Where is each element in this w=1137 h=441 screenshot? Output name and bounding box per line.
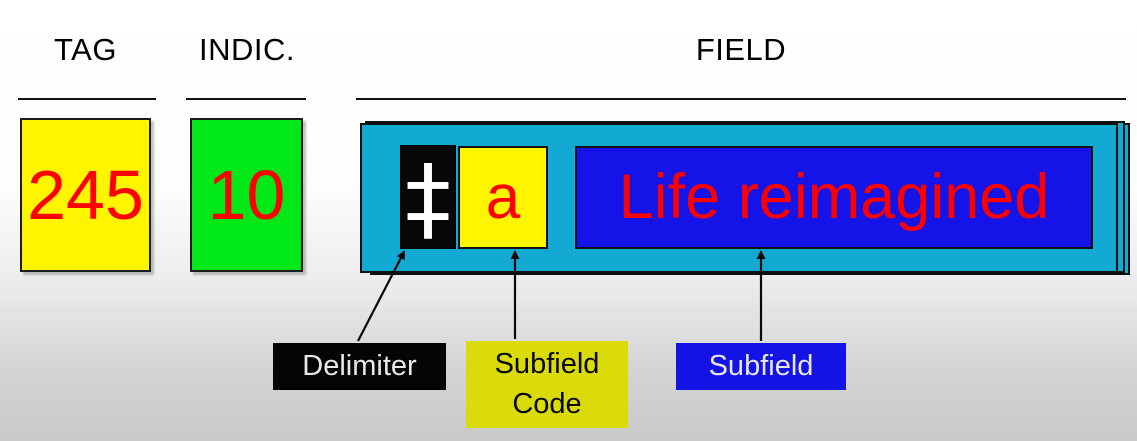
indicator-box: 10 [190,118,303,272]
callout-subfield: Subfield [676,343,846,390]
subfield-box: Life reimagined [575,146,1093,249]
callout-delimiter: Delimiter [273,343,446,390]
header-rule-tag [18,98,156,100]
header-rule-indicators [186,98,306,100]
column-header-tag-label: TAG [54,32,117,67]
double-dagger-icon: ‡ [405,163,451,235]
callout-subfield-label: Subfield [709,352,814,381]
tag-value: 245 [27,160,144,230]
column-header-field-label: FIELD [696,32,786,67]
subfield-code-box: a [458,146,548,249]
delimiter-box: ‡ [400,145,456,249]
column-header-indicators-label: INDIC. [199,32,295,67]
column-header-tag: TAG [20,32,151,68]
callout-subfield-code-label-line1: Subfield [495,345,600,384]
column-header-field: FIELD [356,32,1126,68]
diagram-canvas: TAG INDIC. FIELD 245 10 ‡ a Life reimagi… [0,0,1137,441]
header-rule-field [356,98,1126,100]
indicator-value: 10 [208,160,286,230]
tag-box: 245 [20,118,151,272]
callout-subfield-code-label-line2: Code [512,385,581,424]
subfield-code-value: a [486,167,520,229]
callout-delimiter-label: Delimiter [302,352,416,381]
column-header-indicators: INDIC. [188,32,306,68]
subfield-value: Life reimagined [619,166,1050,229]
callout-subfield-code: Subfield Code [466,341,628,428]
